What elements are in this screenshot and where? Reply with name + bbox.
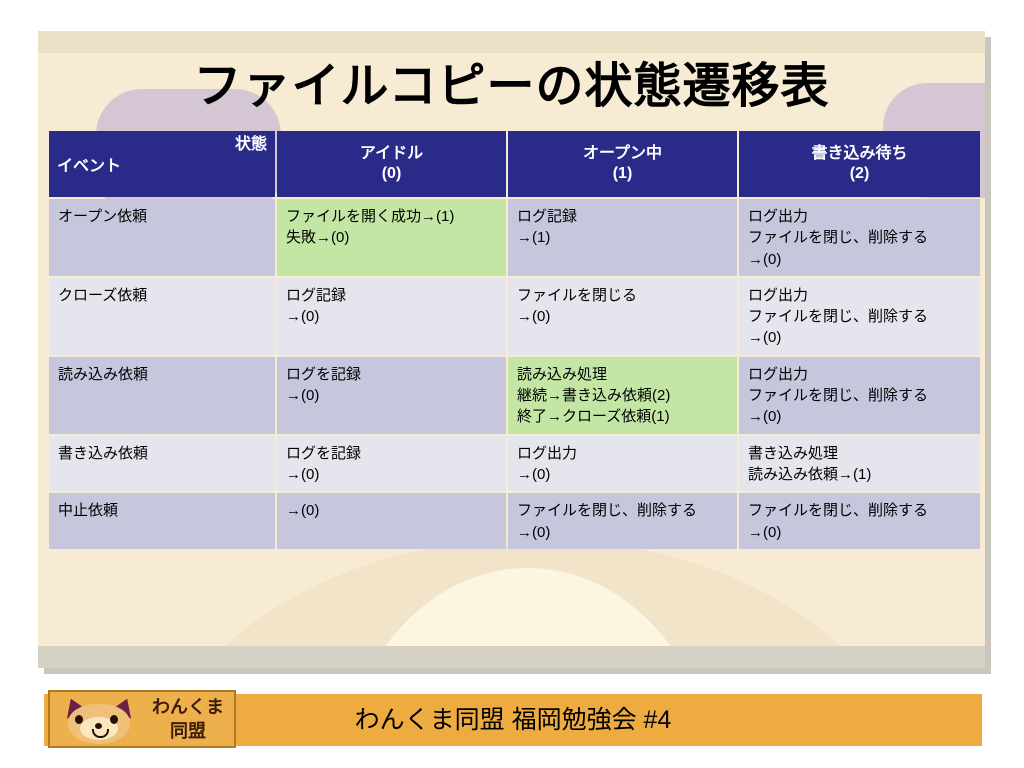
cell-line: →(0) <box>748 249 972 270</box>
cell-line: 読み込み処理 <box>517 364 729 385</box>
cell-line: →(0) <box>517 522 729 543</box>
cell-line: →(0) <box>517 464 729 485</box>
table-row: オープン依頼ファイルを開く成功→(1)失敗→(0)ログ記録→(1)ログ出力ファイ… <box>49 199 980 276</box>
cell-line: ログ記録 <box>286 285 498 306</box>
table-row: 書き込み依頼ログを記録→(0)ログ出力→(0)書き込み処理読み込み依頼→(1) <box>49 436 980 492</box>
row-event-label: 読み込み依頼 <box>49 357 275 434</box>
table-row: 読み込み依頼ログを記録→(0)読み込み処理継続→書き込み依頼(2)終了→クローズ… <box>49 357 980 434</box>
table-cell: ログ出力→(0) <box>508 436 737 492</box>
cell-line: ログ出力 <box>517 443 729 464</box>
cell-line: ファイルを閉じる <box>517 285 729 306</box>
state-transition-table-wrapper: 状態 イベント アイドル (0) オープン中 (1) 書き込み待ち <box>47 129 976 551</box>
cell-line: ファイルを閉じ、削除する <box>748 227 972 248</box>
cell-line: ファイルを閉じ、削除する <box>748 500 972 521</box>
table-cell: ログを記録→(0) <box>277 436 506 492</box>
cell-line: →(0) <box>748 406 972 427</box>
logo-text-line1: わんくま <box>152 697 224 717</box>
table-cell: ログを記録→(0) <box>277 357 506 434</box>
state-transition-table: 状態 イベント アイドル (0) オープン中 (1) 書き込み待ち <box>47 129 982 551</box>
cell-line: →(0) <box>286 464 498 485</box>
bear-face-icon <box>62 698 136 744</box>
cell-line: ファイルを開く成功→(1) <box>286 206 498 227</box>
logo-text-line2: 同盟 <box>142 719 234 743</box>
cell-line: →(1) <box>517 227 729 248</box>
header-corner-cell: 状態 イベント <box>49 131 275 197</box>
cell-line: ログ出力 <box>748 364 972 385</box>
column-header-opening: オープン中 (1) <box>508 131 737 197</box>
table-row: 中止依頼→(0)ファイルを閉じ、削除する→(0)ファイルを閉じ、削除する→(0) <box>49 493 980 549</box>
cell-line: →(0) <box>286 500 498 521</box>
table-row: クローズ依頼ログ記録→(0)ファイルを閉じる→(0)ログ出力ファイルを閉じ、削除… <box>49 278 980 355</box>
table-cell: ログ出力ファイルを閉じ、削除する→(0) <box>739 357 980 434</box>
column-header-write-wait-name: 書き込み待ち <box>739 144 980 164</box>
table-cell: ファイルを閉じ、削除する→(0) <box>739 493 980 549</box>
cell-line: 失敗→(0) <box>286 227 498 248</box>
cell-line: →(0) <box>286 385 498 406</box>
cell-line: ログ出力 <box>748 206 972 227</box>
cell-line: →(0) <box>517 306 729 327</box>
cell-line: 読み込み依頼→(1) <box>748 464 972 485</box>
table-cell: 読み込み処理継続→書き込み依頼(2)終了→クローズ依頼(1) <box>508 357 737 434</box>
table-cell: ログ出力ファイルを閉じ、削除する→(0) <box>739 199 980 276</box>
table-cell: ファイルを開く成功→(1)失敗→(0) <box>277 199 506 276</box>
row-event-label: 中止依頼 <box>49 493 275 549</box>
cell-line: ファイルを閉じ、削除する <box>748 385 972 406</box>
table-header-row: 状態 イベント アイドル (0) オープン中 (1) 書き込み待ち <box>49 131 980 197</box>
table-cell: 書き込み処理読み込み依頼→(1) <box>739 436 980 492</box>
cell-line: →(0) <box>748 522 972 543</box>
column-header-idle-number: (0) <box>277 164 506 184</box>
table-cell: →(0) <box>277 493 506 549</box>
bear-eye-left-icon <box>75 715 83 724</box>
wankuma-logo: わんくま 同盟 <box>48 690 236 748</box>
slide: ファイルコピーの状態遷移表 状態 イベント アイ <box>0 0 1024 768</box>
cell-line: ファイルを閉じ、削除する <box>517 500 729 521</box>
column-header-idle: アイドル (0) <box>277 131 506 197</box>
header-event-label: イベント <box>57 157 267 177</box>
cell-line: ログを記録 <box>286 364 498 385</box>
column-header-idle-name: アイドル <box>277 144 506 164</box>
table-cell: ログ出力ファイルを閉じ、削除する→(0) <box>739 278 980 355</box>
column-header-write-wait-number: (2) <box>739 164 980 184</box>
column-header-opening-name: オープン中 <box>508 144 737 164</box>
bottom-band <box>38 646 985 668</box>
cell-line: 継続→書き込み依頼(2) <box>517 385 729 406</box>
row-event-label: クローズ依頼 <box>49 278 275 355</box>
logo-text: わんくま 同盟 <box>142 695 234 744</box>
cell-line: ログを記録 <box>286 443 498 464</box>
bear-eye-right-icon <box>110 715 118 724</box>
cell-line: →(0) <box>286 306 498 327</box>
page-title: ファイルコピーの状態遷移表 <box>38 46 985 116</box>
cell-line: ログ出力 <box>748 285 972 306</box>
table-cell: ログ記録→(1) <box>508 199 737 276</box>
header-state-label: 状態 <box>57 135 267 155</box>
table-cell: ファイルを閉じ、削除する→(0) <box>508 493 737 549</box>
cell-line: 終了→クローズ依頼(1) <box>517 406 729 427</box>
cell-line: ログ記録 <box>517 206 729 227</box>
cell-line: →(0) <box>748 327 972 348</box>
row-event-label: オープン依頼 <box>49 199 275 276</box>
table-header: 状態 イベント アイドル (0) オープン中 (1) 書き込み待ち <box>49 131 980 197</box>
cell-line: ファイルを閉じ、削除する <box>748 306 972 327</box>
footer-bar: わんくま同盟 福岡勉強会 #4 わんくま 同盟 <box>44 694 982 746</box>
row-event-label: 書き込み依頼 <box>49 436 275 492</box>
table-body: オープン依頼ファイルを開く成功→(1)失敗→(0)ログ記録→(1)ログ出力ファイ… <box>49 199 980 549</box>
table-cell: ログ記録→(0) <box>277 278 506 355</box>
column-header-write-wait: 書き込み待ち (2) <box>739 131 980 197</box>
cell-line: 書き込み処理 <box>748 443 972 464</box>
column-header-opening-number: (1) <box>508 164 737 184</box>
slide-content-area: ファイルコピーの状態遷移表 状態 イベント アイ <box>38 31 985 668</box>
table-cell: ファイルを閉じる→(0) <box>508 278 737 355</box>
